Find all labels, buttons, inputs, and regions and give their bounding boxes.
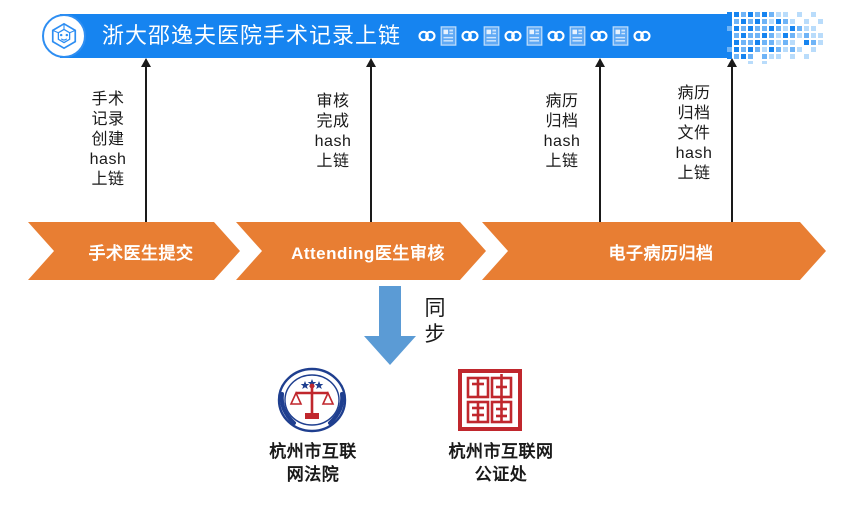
chain-link-icon xyxy=(417,28,437,44)
process-stage-surgeon-submit[interactable]: 手术医生提交 xyxy=(28,222,240,280)
sync-label: 同 步 xyxy=(422,296,448,348)
process-stage-label: 手术医生提交 xyxy=(75,239,194,264)
court-scales-emblem xyxy=(272,366,352,434)
process-stage-label: 电子病历归档 xyxy=(595,239,714,264)
chain-link-icon xyxy=(460,28,480,44)
arrow-shaft xyxy=(370,66,372,222)
hash-step-label-record-archive: 病历 归档 hash 上链 xyxy=(536,92,588,172)
process-stage-attending-review[interactable]: Attending医生审核 xyxy=(236,222,486,280)
sync-down-arrow xyxy=(362,286,418,366)
block-node-icon xyxy=(612,26,629,46)
block-node-icon xyxy=(440,26,457,46)
hash-step-label-review-complete: 审核 完成 hash 上链 xyxy=(307,92,359,172)
chain-link-icon xyxy=(589,28,609,44)
org-label-hangzhou-internet-court: 杭州市互联 网法院 xyxy=(238,440,388,486)
block-node-icon xyxy=(526,26,543,46)
process-stage-label: Attending医生审核 xyxy=(277,239,445,264)
arrow-shaft xyxy=(599,66,601,222)
arrow-shaft xyxy=(731,66,733,222)
hash-step-label-record-archive-file: 病历 归档 文件 hash 上链 xyxy=(668,84,720,184)
hash-step-label-surgery-record-create: 手术 记录 创建 hash 上链 xyxy=(82,90,134,190)
arrow-shaft xyxy=(145,66,147,222)
block-node-icon xyxy=(483,26,500,46)
chain-link-icon xyxy=(503,28,523,44)
blockchain-hexagon-icon xyxy=(42,14,86,58)
notary-seal-stamp xyxy=(457,368,523,432)
chain-link-icon xyxy=(632,28,652,44)
org-label-hangzhou-internet-notary: 杭州市互联网 公证处 xyxy=(420,440,582,486)
process-stage-emr-archive[interactable]: 电子病历归档 xyxy=(482,222,826,280)
pixel-dissolve-decoration xyxy=(714,8,827,64)
chain-link-icon xyxy=(546,28,566,44)
banner-title: 浙大邵逸夫医院手术记录上链 xyxy=(102,14,401,58)
block-node-icon xyxy=(569,26,586,46)
banner-chain-decoration xyxy=(417,14,652,58)
process-stage-row: 手术医生提交 Attending医生审核 电子病历归档 xyxy=(0,222,852,280)
header-banner: 浙大邵逸夫医院手术记录上链 xyxy=(42,14,827,58)
